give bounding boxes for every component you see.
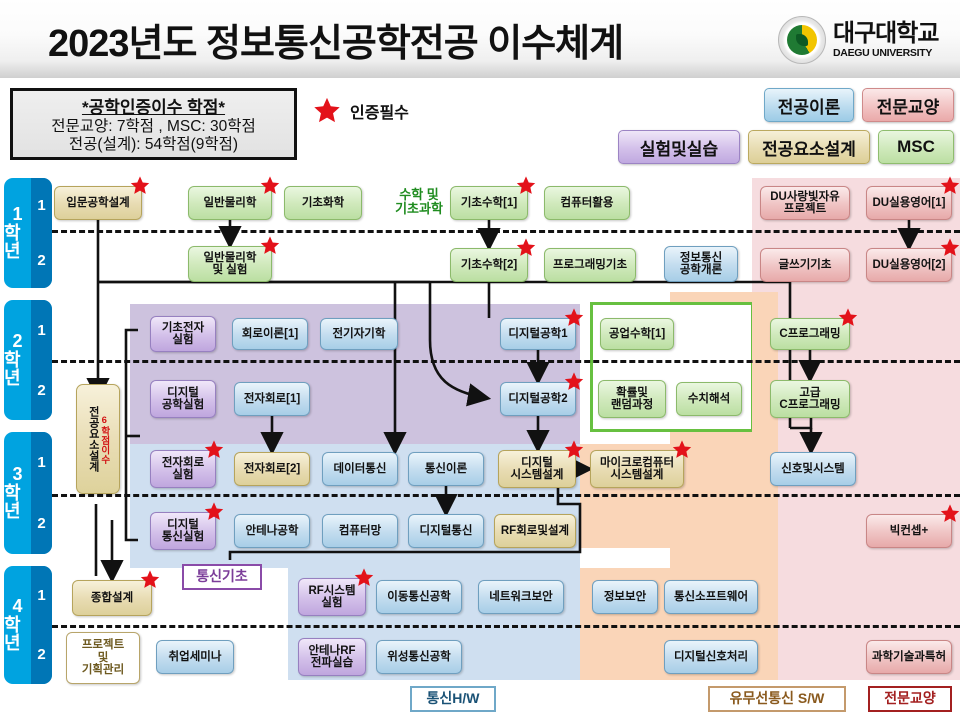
course-box[interactable]: 전자회로[2]	[234, 452, 310, 486]
year-1-semester-1: 1	[31, 178, 52, 233]
course-label: 취업세미나	[169, 651, 222, 663]
course-label: 전자회로실험	[162, 457, 204, 482]
course-box[interactable]: 디지털공학1	[500, 318, 576, 350]
legend-chip-liberal: 전문교양	[862, 88, 954, 122]
course-box[interactable]: 기초수학[2]	[450, 248, 528, 282]
semester-divider-4	[52, 625, 960, 628]
accreditation-credit-box: *공학인증이수 학점* 전문교양: 7학점 , MSC: 30학점 전공(설계)…	[10, 88, 297, 160]
course-box[interactable]: 정보통신공학개론	[664, 246, 738, 282]
course-label: 디지털시스템설계	[511, 457, 564, 482]
caption-comm-hw: 통신H/W	[410, 686, 496, 712]
course-label: 정보보안	[604, 591, 646, 603]
course-label: 신호및시스템	[781, 463, 844, 475]
course-label: C프로그래밍	[779, 328, 840, 340]
course-label: RF회로및설계	[501, 525, 569, 537]
course-box[interactable]: 일반물리학및 실험	[188, 246, 272, 282]
course-label: 위성통신공학	[387, 651, 450, 663]
caption-comm-basic: 통신기초	[182, 564, 262, 590]
design-core-box: 전공요소설계 6학점이수	[76, 384, 120, 494]
semester-divider-1	[52, 230, 960, 233]
caption-wired-wireless-sw: 유무선통신 S/W	[708, 686, 846, 712]
course-box[interactable]: 기초화학	[284, 186, 362, 220]
course-box[interactable]: 디지털공학실험	[150, 380, 216, 418]
course-label: 기초화학	[302, 197, 344, 209]
course-label: 고급C프로그래밍	[779, 387, 840, 412]
university-logo: 대구대학교 DAEGU UNIVERSITY	[778, 16, 938, 64]
course-label: 공업수학[1]	[609, 328, 665, 340]
year-rail-2-label: 2학년	[4, 300, 31, 420]
required-star-legend: 인증필수	[312, 96, 409, 125]
course-box[interactable]: 디지털시스템설계	[498, 450, 576, 488]
design-core-note: 6학점이수	[99, 415, 109, 464]
course-box[interactable]: 확률및랜덤과정	[598, 380, 666, 418]
course-label: DU실용영어[1]	[873, 197, 946, 209]
course-box[interactable]: RF시스템실험	[298, 578, 366, 616]
course-box[interactable]: 취업세미나	[156, 640, 234, 674]
course-box[interactable]: 정보보안	[592, 580, 658, 614]
course-label: 일반물리학및 실험	[204, 252, 257, 277]
course-label: 마이크로컴퓨터시스템설계	[600, 457, 674, 482]
course-box[interactable]: 수치해석	[676, 382, 742, 416]
course-label: 기초수학[2]	[461, 259, 517, 271]
course-label: 프로젝트및기획관리	[82, 639, 124, 676]
course-label: 디지털공학2	[508, 393, 567, 405]
course-box[interactable]: 안테나공학	[234, 514, 310, 548]
course-box[interactable]: 고급C프로그래밍	[770, 380, 850, 418]
course-label: DU사랑빛자유프로젝트	[770, 191, 840, 216]
course-label: 전자회로[1]	[244, 393, 300, 405]
curriculum-diagram: 2023년도 정보통신공학전공 이수체계 대구대학교 DAEGU UNIVERS…	[0, 0, 960, 720]
accreditation-credit-title: *공학인증이수 학점*	[13, 93, 294, 118]
year-3-semester-1: 1	[31, 432, 52, 493]
course-label: 통신이론	[425, 463, 467, 475]
course-label: 디지털신호처리	[674, 651, 748, 663]
year-rail-2: 2학년 1 2	[4, 300, 52, 420]
course-label: 안테나RF전파실습	[308, 645, 355, 670]
course-label: 입문공학설계	[66, 197, 129, 209]
course-box[interactable]: 전자회로실험	[150, 450, 216, 488]
course-label: 전기자기학	[333, 328, 386, 340]
year-rail-3-label: 3학년	[4, 432, 31, 554]
required-star-label: 인증필수	[350, 99, 409, 123]
legend-chip-lab: 실험및실습	[618, 130, 740, 164]
legend-chip-design: 전공요소설계	[748, 130, 870, 164]
course-box[interactable]: 데이터통신	[322, 452, 398, 486]
course-box[interactable]: 공업수학[1]	[600, 318, 674, 350]
year-rail-4: 4학년 1 2	[4, 566, 52, 684]
year-4-semester-1: 1	[31, 566, 52, 625]
course-label: 기초수학[1]	[461, 197, 517, 209]
year-rail-3: 3학년 1 2	[4, 432, 52, 554]
legend-chip-msc: MSC	[878, 130, 954, 164]
course-label: 안테나공학	[246, 525, 299, 537]
caption-liberal-arts: 전문교양	[868, 686, 952, 712]
semester-divider-2	[52, 360, 960, 363]
course-label: 프로그래밍기초	[553, 259, 627, 271]
year-rail-1: 1학년 1 2	[4, 178, 52, 288]
page-title: 2023년도 정보통신공학전공 이수체계	[48, 12, 623, 67]
year-rail-4-label: 4학년	[4, 566, 31, 684]
course-box[interactable]: 디지털통신실험	[150, 512, 216, 550]
course-box[interactable]: 안테나RF전파실습	[298, 638, 366, 676]
zone-wireless-sw-edge	[752, 292, 778, 680]
course-box[interactable]: 디지털신호처리	[664, 640, 758, 674]
course-label: 일반물리학	[204, 197, 257, 209]
course-box[interactable]: 이동통신공학	[376, 580, 462, 614]
course-label: 종합설계	[91, 592, 133, 604]
course-box[interactable]: 과학기술과특허	[866, 640, 952, 674]
semester-divider-3	[52, 494, 960, 497]
course-label: 과학기술과특허	[872, 651, 946, 663]
course-box[interactable]: 프로젝트및기획관리	[66, 632, 140, 684]
design-core-label: 전공요소설계	[87, 406, 98, 472]
year-3-semester-2: 2	[31, 493, 52, 554]
course-label: 컴퓨터활용	[561, 197, 614, 209]
course-box[interactable]: 기초수학[1]	[450, 186, 528, 220]
year-4-semester-2: 2	[31, 625, 52, 684]
course-box[interactable]: 컴퓨터망	[322, 514, 398, 548]
course-box[interactable]: 위성통신공학	[376, 640, 462, 674]
course-box[interactable]: 전기자기학	[320, 318, 398, 350]
course-label: 컴퓨터망	[339, 525, 381, 537]
course-box[interactable]: 컴퓨터활용	[544, 186, 630, 220]
course-box[interactable]: 신호및시스템	[770, 452, 856, 486]
course-label: 디지털통신실험	[162, 519, 204, 544]
year-1-semester-2: 2	[31, 233, 52, 288]
course-box[interactable]: 글쓰기기초	[760, 248, 850, 282]
course-box[interactable]: DU실용영어[1]	[866, 186, 952, 220]
course-label: 통신소프트웨어	[674, 591, 748, 603]
course-box[interactable]: C프로그래밍	[770, 318, 850, 350]
course-label: 이동통신공학	[387, 591, 450, 603]
course-box[interactable]: DU실용영어[2]	[866, 248, 952, 282]
legend-chip-theory: 전공이론	[764, 88, 854, 122]
course-box[interactable]: DU사랑빛자유프로젝트	[760, 186, 850, 220]
year-rail-1-label: 1학년	[4, 178, 31, 288]
page-header: 2023년도 정보통신공학전공 이수체계 대구대학교 DAEGU UNIVERS…	[0, 0, 960, 78]
course-box[interactable]: 종합설계	[72, 580, 152, 616]
year-2-semester-1: 1	[31, 300, 52, 360]
course-box[interactable]: 디지털공학2	[500, 382, 576, 416]
course-box[interactable]: 빅컨셉+	[866, 514, 952, 548]
course-box[interactable]: 디지털통신	[408, 514, 484, 548]
course-box[interactable]: 마이크로컴퓨터시스템설계	[590, 450, 684, 488]
course-label: 확률및랜덤과정	[611, 387, 653, 412]
course-label: DU실용영어[2]	[873, 259, 946, 271]
course-label: 디지털통신	[420, 525, 473, 537]
course-label: 데이터통신	[334, 463, 387, 475]
course-box[interactable]: 전자회로[1]	[234, 382, 310, 416]
accreditation-credit-line-1: 전문교양: 7학점 , MSC: 30학점	[13, 118, 294, 136]
course-label: 네트워크보안	[489, 591, 552, 603]
red-star-icon	[312, 96, 342, 125]
course-label: 회로이론[1]	[242, 328, 298, 340]
course-box[interactable]: 입문공학설계	[54, 186, 142, 220]
course-label: 전자회로[2]	[244, 463, 300, 475]
year-2-semester-2: 2	[31, 360, 52, 420]
course-box[interactable]: 일반물리학	[188, 186, 272, 220]
course-box[interactable]: 통신소프트웨어	[664, 580, 758, 614]
course-box[interactable]: 통신이론	[408, 452, 484, 486]
course-label: 디지털공학1	[508, 328, 567, 340]
daegu-university-emblem-icon	[778, 16, 826, 64]
course-label: 정보통신공학개론	[680, 252, 722, 277]
university-name-en: DAEGU UNIVERSITY	[833, 48, 938, 59]
course-box[interactable]: 기초전자실험	[150, 316, 216, 352]
course-label: 수치해석	[688, 393, 730, 405]
course-label: RF시스템실험	[308, 585, 355, 610]
course-label: 글쓰기기초	[779, 259, 832, 271]
accreditation-credit-line-2: 전공(설계): 54학점(9학점)	[13, 136, 294, 154]
course-box[interactable]: RF회로및설계	[494, 514, 576, 548]
course-box[interactable]: 프로그래밍기초	[544, 248, 636, 282]
university-name-kr: 대구대학교	[833, 22, 938, 46]
course-box[interactable]: 네트워크보안	[478, 580, 564, 614]
course-label: 디지털공학실험	[162, 387, 204, 412]
course-label: 빅컨셉+	[890, 525, 928, 537]
course-label: 기초전자실험	[162, 322, 204, 347]
course-box[interactable]: 회로이론[1]	[232, 318, 308, 350]
